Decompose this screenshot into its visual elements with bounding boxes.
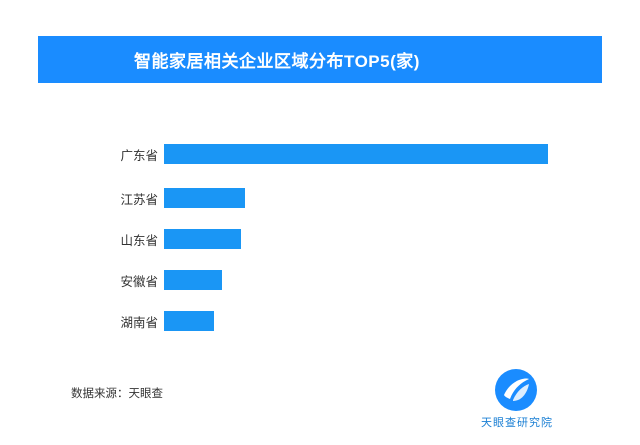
bar-安徽省 [164, 270, 222, 290]
category-label: 安徽省 [38, 271, 158, 290]
chart-screenshot: 智能家居相关企业区域分布TOP5(家) 广东省 江苏省 山东省 安徽省 湖南省 [0, 0, 640, 445]
bar-广东省 [164, 144, 548, 164]
brand-name: 天眼查研究院 [462, 414, 572, 430]
right-gutter [602, 0, 640, 445]
bar-chart-plot: 广东省 江苏省 山东省 安徽省 湖南省 [38, 115, 602, 340]
bar-湖南省 [164, 311, 214, 331]
category-label: 广东省 [38, 145, 158, 164]
swoosh-eye-logo-icon [494, 368, 538, 412]
category-label: 江苏省 [38, 189, 158, 208]
page-title: 智能家居相关企业区域分布TOP5(家) [134, 47, 420, 72]
left-gutter [0, 0, 38, 445]
chart-row: 安徽省 [38, 267, 602, 293]
title-banner: 智能家居相关企业区域分布TOP5(家) [38, 36, 602, 83]
chart-row: 江苏省 [38, 185, 602, 211]
source-label: 数据来源：天眼查 [71, 385, 163, 401]
chart-row: 广东省 [38, 141, 602, 167]
chart-row: 山东省 [38, 226, 602, 252]
chart-row: 湖南省 [38, 308, 602, 334]
category-label: 山东省 [38, 230, 158, 249]
bar-山东省 [164, 229, 241, 249]
chart-card: 智能家居相关企业区域分布TOP5(家) 广东省 江苏省 山东省 安徽省 湖南省 [38, 0, 602, 445]
category-label: 湖南省 [38, 312, 158, 331]
bar-江苏省 [164, 188, 245, 208]
brand-logo: 天眼查研究院 [462, 368, 572, 430]
